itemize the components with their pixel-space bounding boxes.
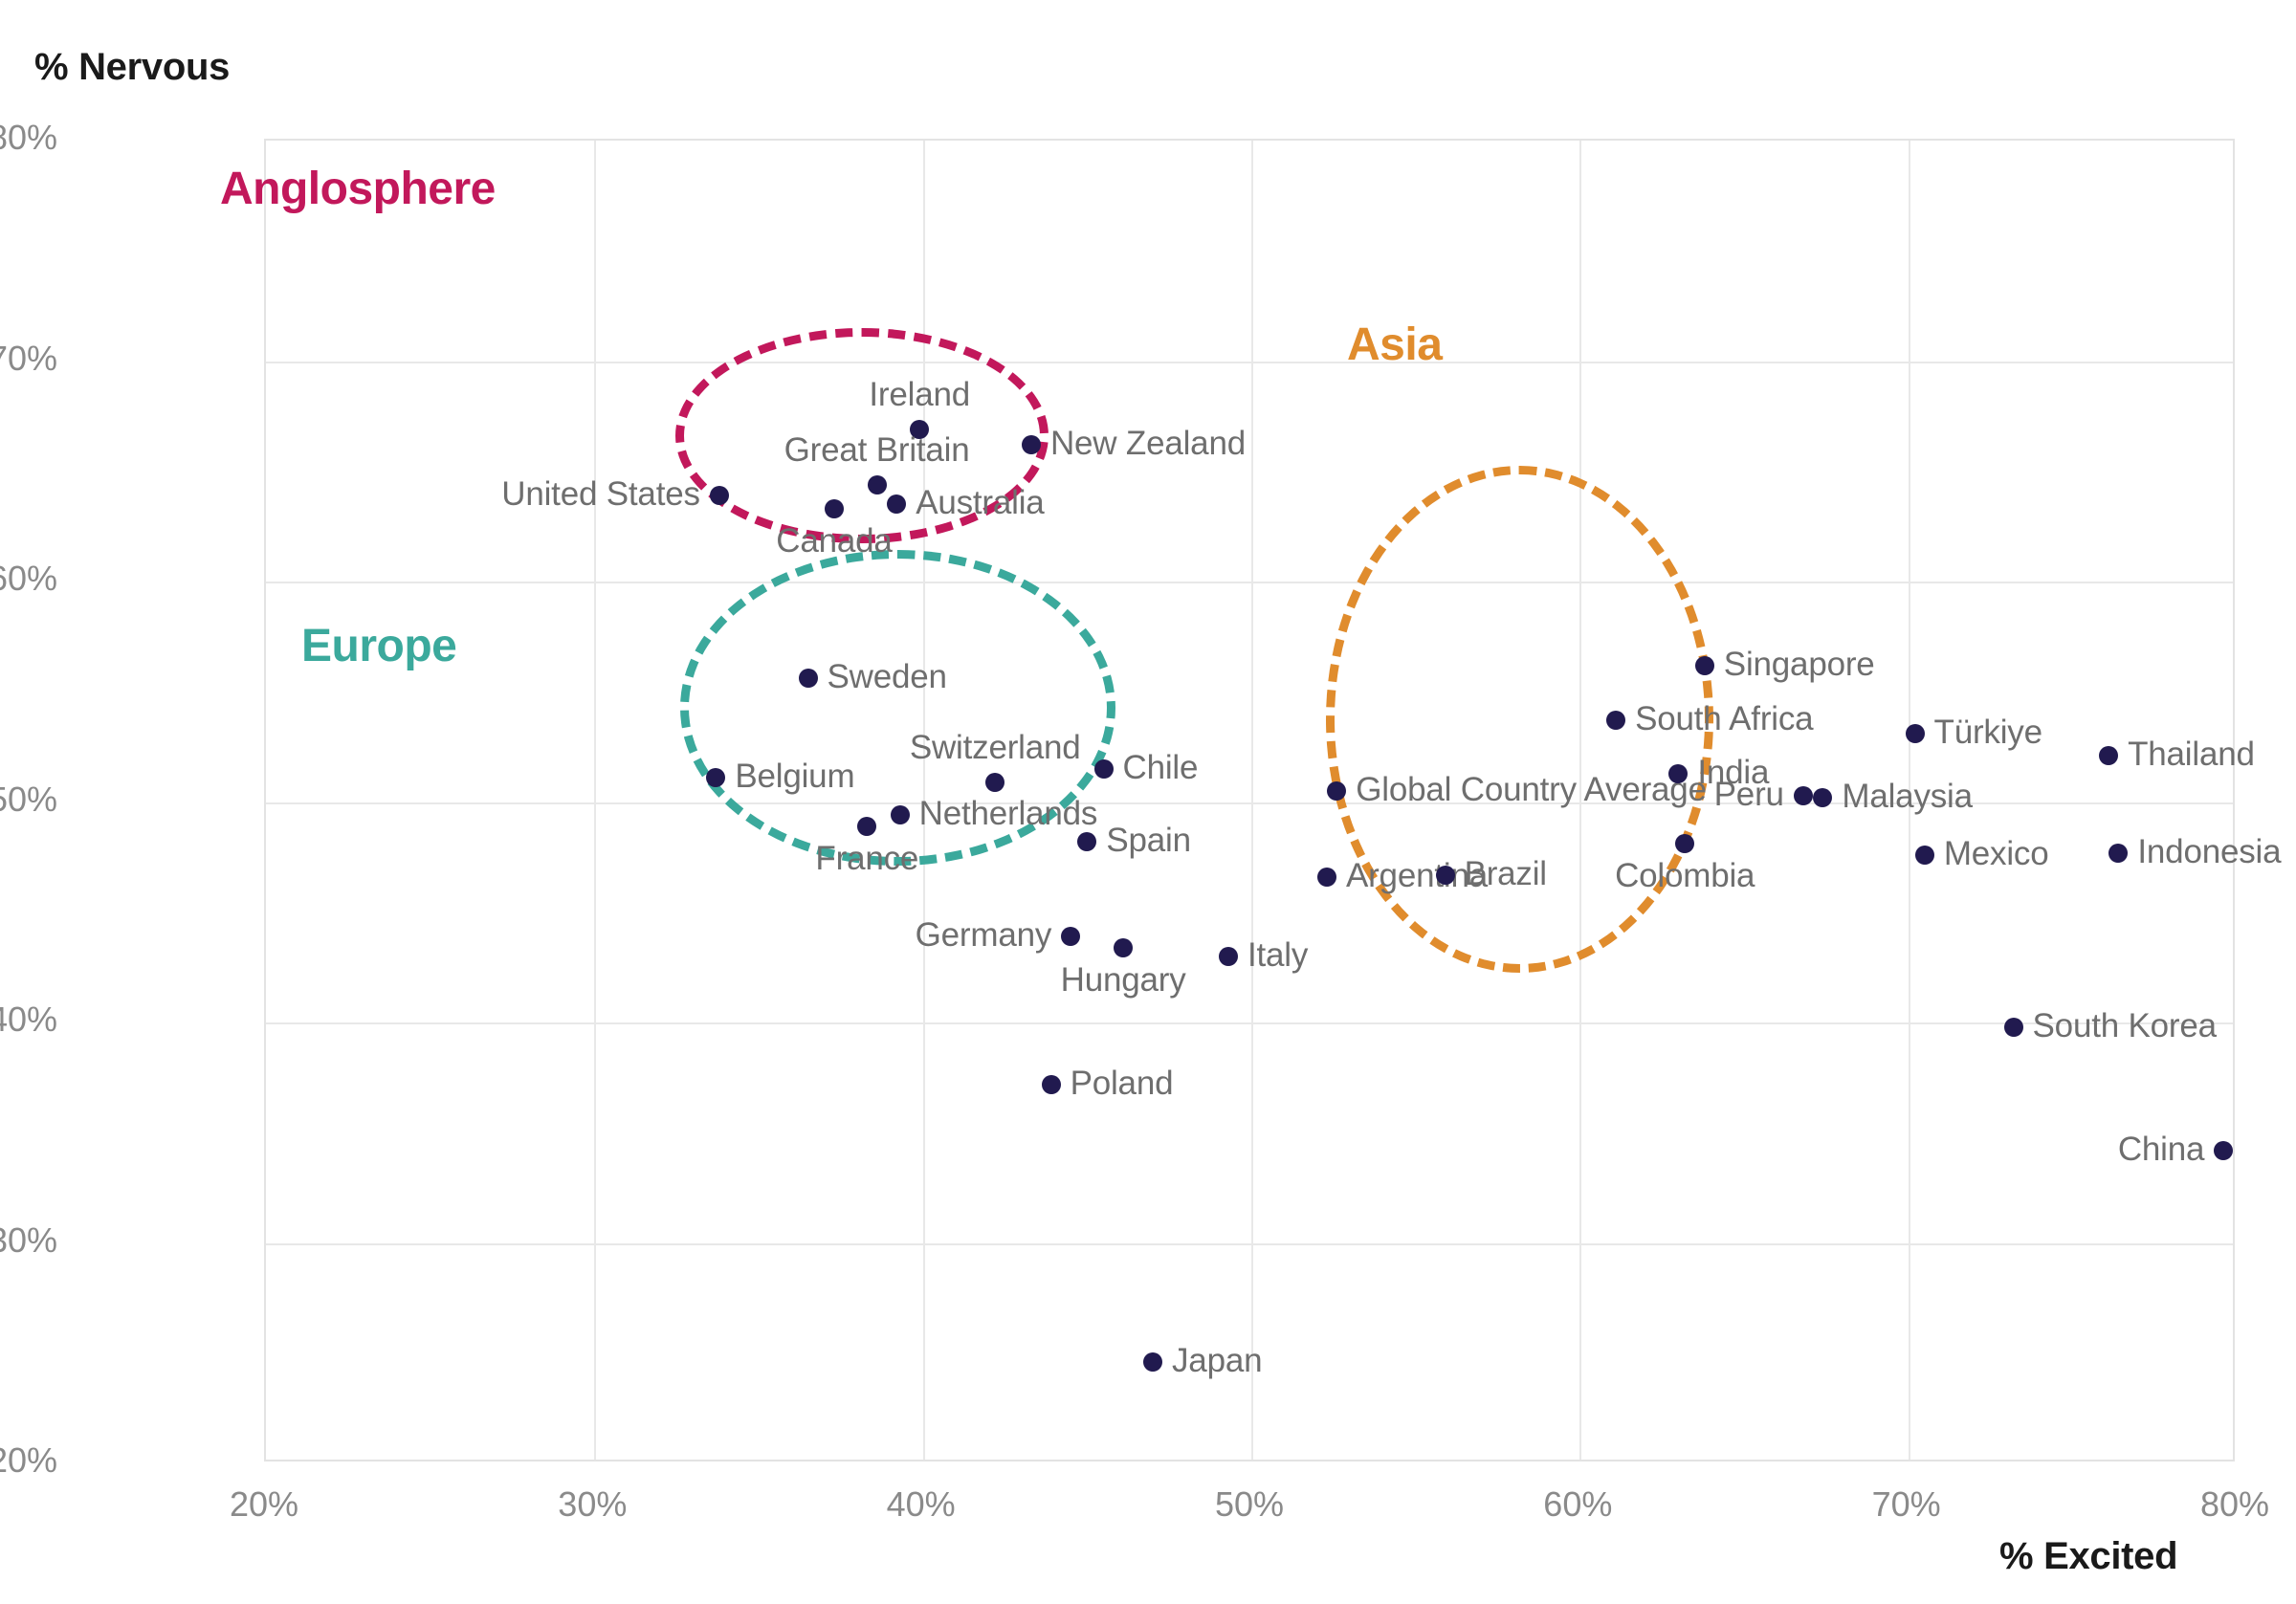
- data-point-label: Türkiye: [1934, 714, 2042, 752]
- data-point-label: Peru: [1714, 776, 1784, 814]
- y-tick-label: 40%: [0, 1000, 57, 1040]
- cluster-label-europe: Europe: [301, 620, 456, 672]
- data-point-label: France: [815, 840, 918, 878]
- x-axis-title: % Excited: [1999, 1535, 2177, 1578]
- cluster-label-anglosphere: Anglosphere: [220, 163, 496, 215]
- y-axis-title: % Nervous: [34, 46, 230, 89]
- data-point[interactable]: [2108, 844, 2128, 863]
- data-point-label: Japan: [1172, 1342, 1262, 1380]
- data-point-label: Colombia: [1615, 857, 1755, 895]
- data-point[interactable]: [1906, 724, 1925, 743]
- x-tick-label: 80%: [2158, 1484, 2296, 1525]
- gridline-vertical: [594, 141, 596, 1460]
- data-point-label: Spain: [1106, 822, 1191, 860]
- data-point[interactable]: [1668, 764, 1688, 783]
- data-point-label: Singapore: [1724, 646, 1875, 684]
- data-point-label: Brazil: [1465, 855, 1547, 893]
- data-point[interactable]: [1042, 1075, 1061, 1094]
- gridline-horizontal: [266, 1022, 2233, 1024]
- gridline-horizontal: [266, 1243, 2233, 1245]
- data-point-label: Great Britain: [784, 431, 970, 470]
- data-point[interactable]: [868, 475, 887, 494]
- data-point[interactable]: [1143, 1352, 1162, 1372]
- data-point[interactable]: [1094, 759, 1114, 779]
- data-point-label: Thailand: [2128, 736, 2255, 774]
- x-tick-label: 30%: [516, 1484, 669, 1525]
- gridline-horizontal: [266, 582, 2233, 583]
- data-point[interactable]: [887, 494, 906, 514]
- data-point-label: Germany: [916, 916, 1052, 955]
- data-point[interactable]: [1813, 788, 1832, 807]
- data-point-label: Global Country Average: [1356, 771, 1707, 809]
- data-point-label: New Zealand: [1050, 425, 1246, 463]
- x-tick-label: 20%: [188, 1484, 341, 1525]
- data-point[interactable]: [825, 499, 844, 518]
- data-point[interactable]: [1327, 781, 1346, 801]
- data-point-label: Switzerland: [910, 729, 1081, 767]
- x-tick-label: 70%: [1830, 1484, 1983, 1525]
- data-point[interactable]: [1695, 656, 1714, 675]
- data-point[interactable]: [1794, 786, 1813, 805]
- y-tick-label: 50%: [0, 780, 57, 820]
- data-point[interactable]: [1022, 435, 1041, 454]
- data-point-label: Canada: [776, 522, 892, 560]
- y-tick-label: 70%: [0, 339, 57, 379]
- data-point-label: Chile: [1123, 749, 1199, 787]
- data-point-label: Poland: [1071, 1065, 1174, 1103]
- gridline-horizontal: [266, 362, 2233, 363]
- gridline-vertical: [1251, 141, 1253, 1460]
- data-point-label: Malaysia: [1842, 778, 1973, 816]
- scatter-chart: % Nervous % Excited 80%70%60%50%40%30%20…: [0, 0, 2296, 1604]
- data-point-label: South Korea: [2033, 1007, 2217, 1045]
- data-point[interactable]: [1436, 866, 1455, 885]
- data-point-label: Ireland: [869, 376, 970, 414]
- data-point-label: Mexico: [1944, 835, 2049, 873]
- data-point-label: Australia: [916, 484, 1044, 522]
- data-point-label: Indonesia: [2137, 833, 2281, 871]
- data-point-label: South Africa: [1635, 700, 1813, 738]
- cluster-label-asia: Asia: [1347, 319, 1442, 371]
- data-point-label: Hungary: [1061, 961, 1186, 1000]
- data-point[interactable]: [891, 805, 910, 824]
- data-point-label: Belgium: [735, 758, 854, 796]
- data-point[interactable]: [2214, 1141, 2233, 1160]
- data-point-label: United States: [501, 475, 700, 514]
- data-point[interactable]: [2004, 1018, 2023, 1037]
- x-tick-label: 60%: [1501, 1484, 1654, 1525]
- data-point[interactable]: [2099, 746, 2118, 765]
- data-point-label: Sweden: [828, 658, 947, 696]
- data-point[interactable]: [1606, 711, 1625, 730]
- data-point[interactable]: [1061, 927, 1080, 946]
- data-point-label: China: [2118, 1131, 2204, 1169]
- plot-area: United StatesIrelandGreat BritainNew Zea…: [264, 139, 2235, 1461]
- x-tick-label: 50%: [1173, 1484, 1326, 1525]
- y-tick-label: 30%: [0, 1220, 57, 1261]
- data-point[interactable]: [1219, 947, 1238, 966]
- data-point[interactable]: [1915, 846, 1934, 865]
- data-point[interactable]: [706, 768, 725, 787]
- y-tick-label: 20%: [0, 1440, 57, 1481]
- y-tick-label: 60%: [0, 559, 57, 599]
- x-tick-label: 40%: [845, 1484, 998, 1525]
- data-point-label: Netherlands: [919, 795, 1098, 833]
- data-point[interactable]: [1077, 832, 1096, 851]
- y-tick-label: 80%: [0, 118, 57, 158]
- data-point[interactable]: [857, 817, 876, 836]
- data-point[interactable]: [985, 773, 1004, 792]
- data-point[interactable]: [710, 486, 729, 505]
- data-point[interactable]: [799, 669, 818, 688]
- data-point[interactable]: [1114, 938, 1133, 957]
- data-point[interactable]: [1675, 834, 1694, 853]
- data-point-label: Italy: [1247, 936, 1308, 975]
- data-point[interactable]: [1317, 868, 1336, 887]
